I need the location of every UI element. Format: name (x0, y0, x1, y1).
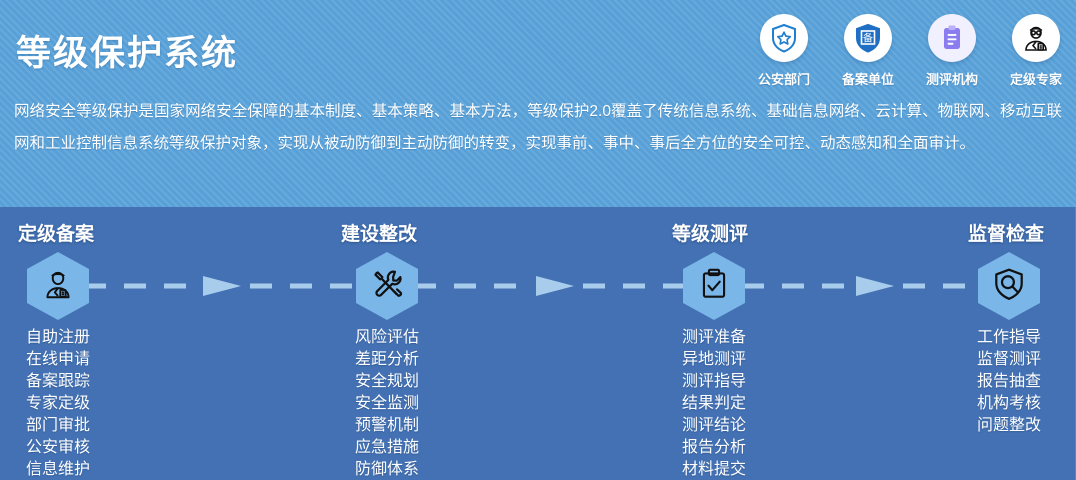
process-section: 定级备案 建设整改 等级测评 监督检查 (0, 207, 1076, 480)
process-connector-line (0, 275, 1076, 297)
banner: 等级保护系统 公安部门 备 (0, 0, 1076, 207)
list-item[interactable]: 风险评估 (355, 327, 419, 349)
role-label: 公安部门 (758, 69, 810, 88)
list-item[interactable]: 报告分析 (682, 437, 746, 459)
tools-icon (369, 266, 405, 307)
list-item[interactable]: 信息维护 (26, 459, 90, 480)
list-item[interactable]: 监督测评 (977, 349, 1041, 371)
list-item[interactable]: 应急措施 (355, 437, 419, 459)
stage-icon-supervision[interactable] (978, 252, 1040, 320)
list-item[interactable]: 差距分析 (355, 349, 419, 371)
list-item[interactable]: 公安审核 (26, 437, 90, 459)
page-title: 等级保护系统 (16, 25, 238, 76)
stage-items-evaluation: 测评准备 异地测评 测评指导 结果判定 测评结论 报告分析 材料提交 (624, 327, 804, 480)
list-item[interactable]: 安全规划 (355, 371, 419, 393)
list-item[interactable]: 材料提交 (682, 459, 746, 480)
clipboard-icon (928, 14, 976, 62)
list-item[interactable]: 测评结论 (682, 415, 746, 437)
stage-icon-filing[interactable] (27, 252, 89, 320)
person-badge-icon (40, 266, 76, 307)
stage-icon-evaluation[interactable] (683, 252, 745, 320)
stage-items-rectification: 风险评估 差距分析 安全规划 安全监测 预警机制 应急措施 防御体系 (297, 327, 477, 480)
stage-icon-rectification[interactable] (356, 252, 418, 320)
system-description: 网络安全等级保护是国家网络安全保障的基本制度、基本策略、基本方法，等级保护2.0… (14, 96, 1062, 160)
stage-items-supervision: 工作指导 监督测评 报告抽查 机构考核 问题整改 (919, 327, 1076, 437)
list-item[interactable]: 备案跟踪 (26, 371, 90, 393)
shield-bei-icon: 备 (844, 14, 892, 62)
list-item[interactable]: 部门审批 (26, 415, 90, 437)
role-item-grading-expert[interactable]: 定级专家 (1004, 14, 1068, 88)
shield-star-icon (760, 14, 808, 62)
list-item[interactable]: 自助注册 (26, 327, 90, 349)
list-item[interactable]: 测评准备 (682, 327, 746, 349)
list-item[interactable]: 测评指导 (682, 371, 746, 393)
role-icon-row: 公安部门 备 备案单位 (752, 14, 1068, 88)
role-item-public-security[interactable]: 公安部门 (752, 14, 816, 88)
list-item[interactable]: 问题整改 (977, 415, 1041, 437)
stage-title-supervision: 监督检查 (968, 219, 1044, 246)
stage-title-evaluation: 等级测评 (672, 219, 748, 246)
stage-title-rectification: 建设整改 (341, 219, 417, 246)
role-label: 备案单位 (842, 69, 894, 88)
list-item[interactable]: 报告抽查 (977, 371, 1041, 393)
clipboard-check-icon (696, 266, 732, 307)
shield-search-icon (991, 266, 1027, 307)
list-item[interactable]: 预警机制 (355, 415, 419, 437)
list-item[interactable]: 机构考核 (977, 393, 1041, 415)
role-label: 定级专家 (1010, 69, 1062, 88)
list-item[interactable]: 异地测评 (682, 349, 746, 371)
list-item[interactable]: 安全监测 (355, 393, 419, 415)
expert-person-icon (1012, 14, 1060, 62)
svg-text:备: 备 (863, 32, 873, 45)
list-item[interactable]: 防御体系 (355, 459, 419, 480)
role-label: 测评机构 (926, 69, 978, 88)
list-item[interactable]: 工作指导 (977, 327, 1041, 349)
stage-items-filing: 自助注册 在线申请 备案跟踪 专家定级 部门审批 公安审核 信息维护 (0, 327, 148, 480)
list-item[interactable]: 专家定级 (26, 393, 90, 415)
role-item-filing-unit[interactable]: 备 备案单位 (836, 14, 900, 88)
list-item[interactable]: 在线申请 (26, 349, 90, 371)
list-item[interactable]: 结果判定 (682, 393, 746, 415)
stage-title-filing: 定级备案 (18, 219, 94, 246)
role-item-assessment-org[interactable]: 测评机构 (920, 14, 984, 88)
deng-bao-system-page: 等级保护系统 公安部门 备 (0, 0, 1076, 480)
